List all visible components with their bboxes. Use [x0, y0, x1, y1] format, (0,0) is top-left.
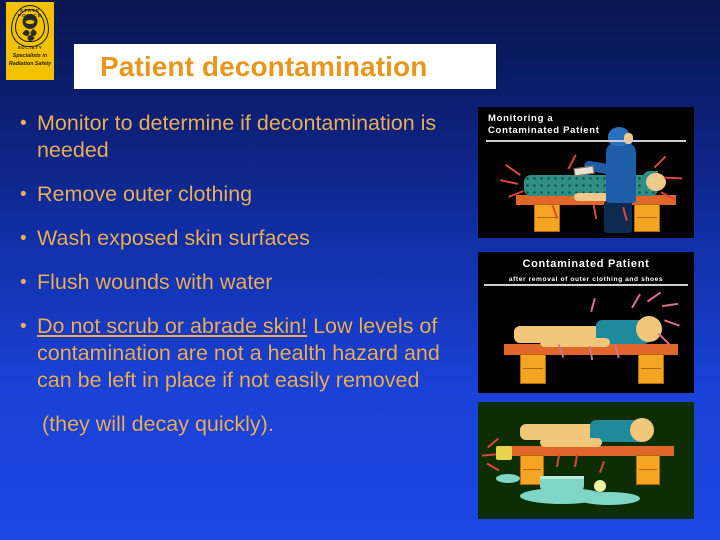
radiation-ray: [556, 455, 560, 467]
radiation-ray: [664, 177, 682, 180]
logo-tagline-line1: Specialists in: [6, 52, 54, 60]
patient-head-shape: [646, 173, 666, 191]
patient-head-shape: [630, 418, 654, 442]
figure-caption-line2: Contaminated Patient: [488, 125, 600, 137]
closing-note: (they will decay quickly).: [20, 411, 470, 438]
figure-caption-line2: after removal of outer clothing and shoe…: [478, 273, 694, 286]
patient-arm-shape: [540, 438, 602, 447]
radiation-ray: [486, 463, 499, 472]
radiation-ray: [662, 303, 678, 307]
radiation-ray: [574, 455, 578, 467]
list-item-text: Remove outer clothing: [37, 181, 470, 208]
logo-tagline-line2: Radiation Safety: [6, 60, 54, 68]
radiation-ray: [664, 319, 680, 326]
logo-arc-bottom-text: SOCIETY: [9, 45, 51, 50]
page-title: Patient decontamination: [74, 51, 427, 83]
wash-basin-stem-shape: [558, 490, 565, 500]
list-item: • Wash exposed skin surfaces: [20, 225, 470, 252]
bullet-marker-icon: •: [20, 110, 37, 164]
organization-logo: STATE POLICE SOCIETY Specialists in Radi…: [6, 2, 54, 80]
figure-patient-after-washing: [478, 402, 694, 519]
radiation-ray: [654, 156, 667, 169]
list-item-text: Flush wounds with water: [37, 269, 470, 296]
radiation-ray: [590, 298, 596, 312]
technician-face-shape: [624, 133, 633, 144]
technician-legs-shape: [604, 201, 632, 233]
illustration-scene: [478, 402, 694, 519]
logo-tagline: Specialists in Radiation Safety: [6, 52, 54, 68]
list-item: • Remove outer clothing: [20, 181, 470, 208]
contamination-spot-icon: [594, 480, 606, 492]
slide-title-box: Patient decontamination: [74, 44, 496, 89]
water-puddle-shape: [578, 492, 640, 505]
figure-caption: Contaminated Patient after removal of ou…: [478, 258, 694, 286]
badge-emblem-icon: STATE POLICE SOCIETY: [9, 5, 51, 51]
list-item-text: Wash exposed skin surfaces: [37, 225, 470, 252]
list-item: • Flush wounds with water: [20, 269, 470, 296]
water-puddle-shape: [496, 474, 520, 483]
list-item-text: Monitor to determine if decontamination …: [37, 110, 470, 164]
figure-caption-line1: Contaminated Patient: [522, 258, 649, 270]
slide-canvas: STATE POLICE SOCIETY Specialists in Radi…: [0, 0, 720, 540]
bullet-marker-icon: •: [20, 225, 37, 252]
bullet-marker-icon: •: [20, 269, 37, 296]
patient-arm-shape: [540, 338, 610, 347]
bullet-list: • Monitor to determine if decontaminatio…: [20, 110, 470, 438]
removed-clothing-shape: [496, 446, 512, 460]
radiation-ray: [500, 179, 518, 185]
radiation-ray: [593, 205, 597, 219]
caption-divider: [486, 140, 686, 142]
list-item-underlined-text: Do not scrub or abrade skin!: [37, 314, 307, 338]
logo-arc-top-text: STATE POLICE: [9, 8, 51, 18]
figure-caption-line1: Monitoring a: [488, 113, 600, 125]
table-leg-shape: [636, 455, 660, 485]
figure-monitoring-contaminated-patient: Monitoring a Contaminated Patient: [478, 107, 694, 238]
radiation-ray: [647, 292, 661, 303]
figure-contaminated-patient-after-clothing-removal: Contaminated Patient after removal of ou…: [478, 252, 694, 393]
list-item: • Monitor to determine if decontaminatio…: [20, 110, 470, 164]
patient-head-shape: [636, 316, 662, 342]
radiation-ray: [482, 453, 496, 456]
table-leg-shape: [638, 354, 664, 384]
table-leg-shape: [634, 204, 660, 232]
radiation-trefoil-icon: [24, 29, 37, 41]
radiation-ray: [505, 164, 521, 176]
radiation-ray: [599, 461, 605, 473]
radiation-ray: [631, 294, 641, 309]
bullet-marker-icon: •: [20, 313, 37, 394]
table-leg-shape: [520, 354, 546, 384]
bullet-marker-icon: •: [20, 181, 37, 208]
list-item-emphasized: • Do not scrub or abrade skin! Low level…: [20, 313, 470, 394]
figure-caption: Monitoring a Contaminated Patient: [488, 113, 600, 137]
list-item-text-wrap: Do not scrub or abrade skin! Low levels …: [37, 313, 470, 394]
